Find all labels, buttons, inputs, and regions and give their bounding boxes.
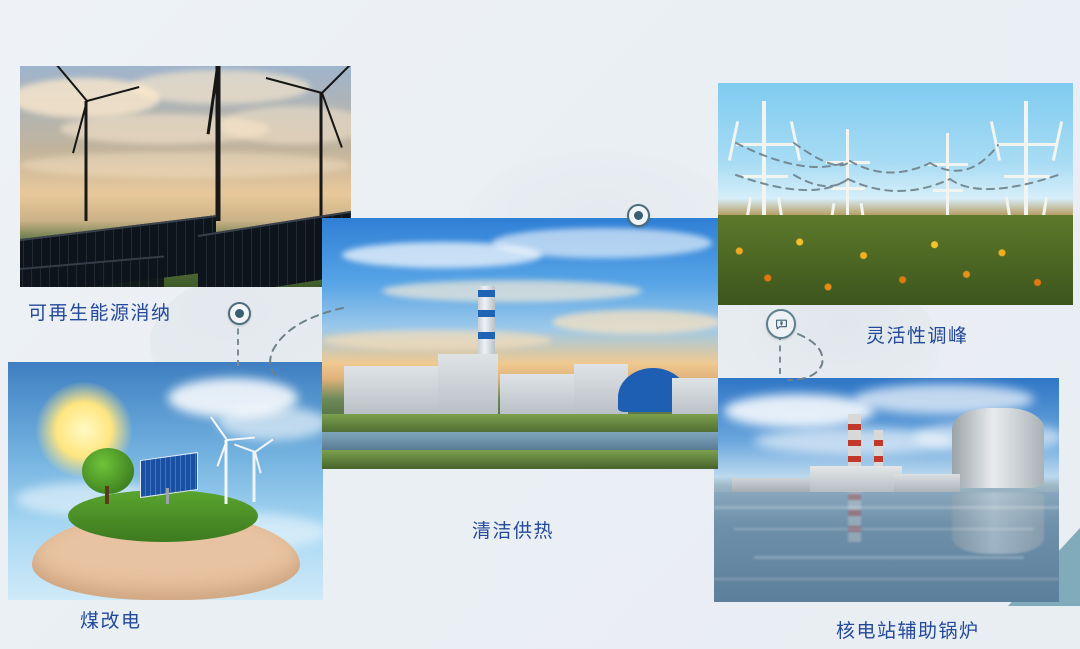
- card-coal-to-electricity[interactable]: [8, 362, 323, 600]
- marker-clean-heat-dot[interactable]: [627, 204, 650, 227]
- filled-dot-icon: [235, 309, 244, 318]
- photo-clean-thermal-plant: [322, 218, 718, 469]
- card-clean-heating[interactable]: [322, 218, 718, 469]
- photo-hand-holding-green-island: [8, 362, 323, 600]
- card-renewable-energy[interactable]: [20, 66, 351, 287]
- card-label-flexibility-peak-shaving: 灵活性调峰: [866, 321, 969, 348]
- connector-line-renewable: [237, 318, 239, 366]
- photo-nuclear-cooling-tower: [714, 378, 1059, 602]
- card-flexibility-peak-shaving[interactable]: [718, 83, 1073, 305]
- card-nuclear-auxiliary-boiler[interactable]: [714, 378, 1059, 602]
- marker-flexibility-icon[interactable]: [766, 309, 796, 339]
- card-label-coal-to-electricity: 煤改电: [80, 606, 142, 633]
- card-label-nuclear-auxiliary-boiler: 核电站辅助锅炉: [836, 616, 980, 643]
- filled-dot-icon: [634, 211, 643, 220]
- message-money-icon: [775, 318, 788, 331]
- scenario-board: 可再生能源消纳: [0, 0, 1080, 649]
- photo-transmission-towers: [718, 83, 1073, 305]
- connector-line-flexibility: [779, 334, 781, 374]
- card-label-renewable-energy: 可再生能源消纳: [28, 298, 172, 325]
- photo-wind-solar-farm: [20, 66, 351, 287]
- marker-renewable-dot[interactable]: [228, 302, 251, 325]
- card-label-clean-heating: 清洁供热: [472, 516, 554, 543]
